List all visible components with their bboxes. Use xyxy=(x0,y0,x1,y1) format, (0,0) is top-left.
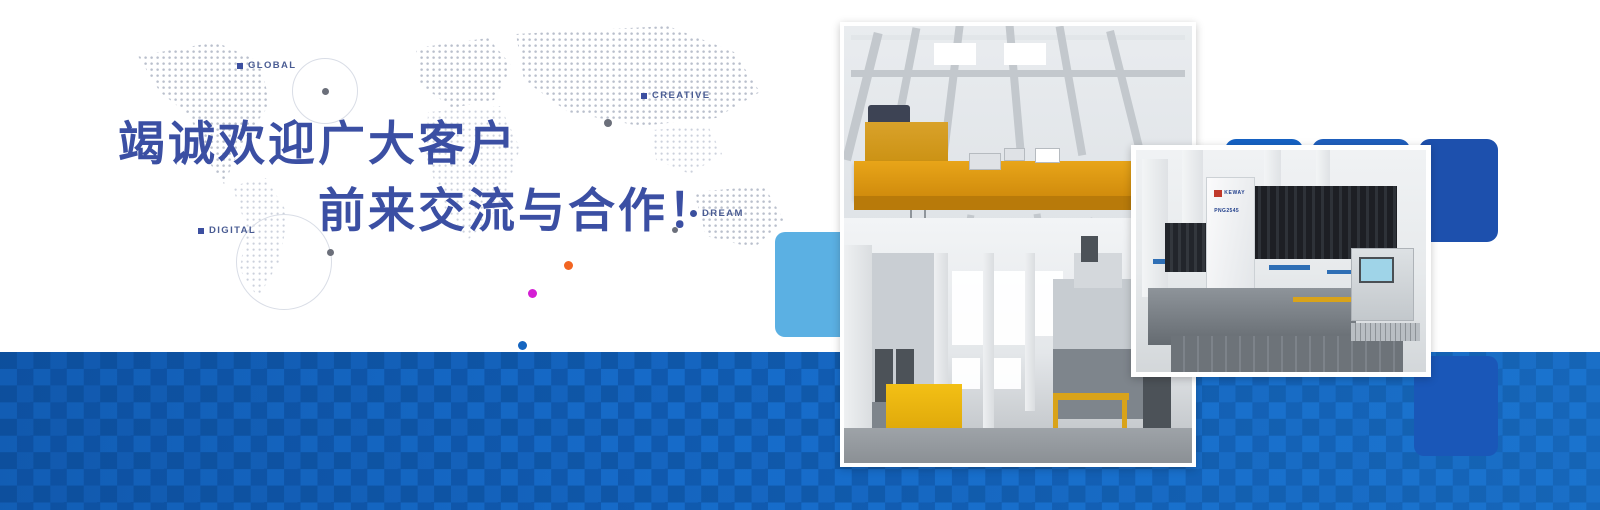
map-node-dot xyxy=(322,88,329,95)
brand-mark-icon xyxy=(1214,190,1222,197)
cnc-brand-logo: KEWAY xyxy=(1214,190,1245,197)
map-node-dot xyxy=(327,249,334,256)
map-label-creative: CREATIVE xyxy=(641,90,711,101)
cnc-brand-text: KEWAY xyxy=(1224,190,1245,196)
promo-banner: GLOBAL CREATIVE DIGITAL DREAM 竭诚欢迎广大客户 前… xyxy=(0,0,1600,510)
map-label-text: CREATIVE xyxy=(652,90,711,101)
cnc-scene: KEWAY PNG2545 xyxy=(1136,150,1426,372)
map-label-text: GLOBAL xyxy=(248,60,297,71)
square-bullet-icon xyxy=(641,93,647,99)
cnc-screen xyxy=(1359,257,1394,284)
orange-accent-dot xyxy=(564,261,573,270)
magenta-accent-dot xyxy=(528,289,537,298)
square-bullet-icon xyxy=(237,63,243,69)
headline-line-2: 前来交流与合作！ xyxy=(0,179,760,246)
cnc-bellows-cover xyxy=(1165,223,1211,272)
blue-accent-dot xyxy=(518,341,527,350)
workshop-floor xyxy=(844,428,1192,463)
banner-headline: 竭诚欢迎广大客户 前来交流与合作！ xyxy=(0,112,760,245)
cnc-worktable xyxy=(1171,336,1403,372)
cnc-keypad xyxy=(1351,323,1421,341)
headline-line-1: 竭诚欢迎广大客户 xyxy=(0,112,760,179)
map-label-global: GLOBAL xyxy=(237,60,297,71)
cnc-machine-photo: KEWAY PNG2545 xyxy=(1131,145,1431,377)
cnc-model-text: PNG2545 xyxy=(1214,208,1239,214)
